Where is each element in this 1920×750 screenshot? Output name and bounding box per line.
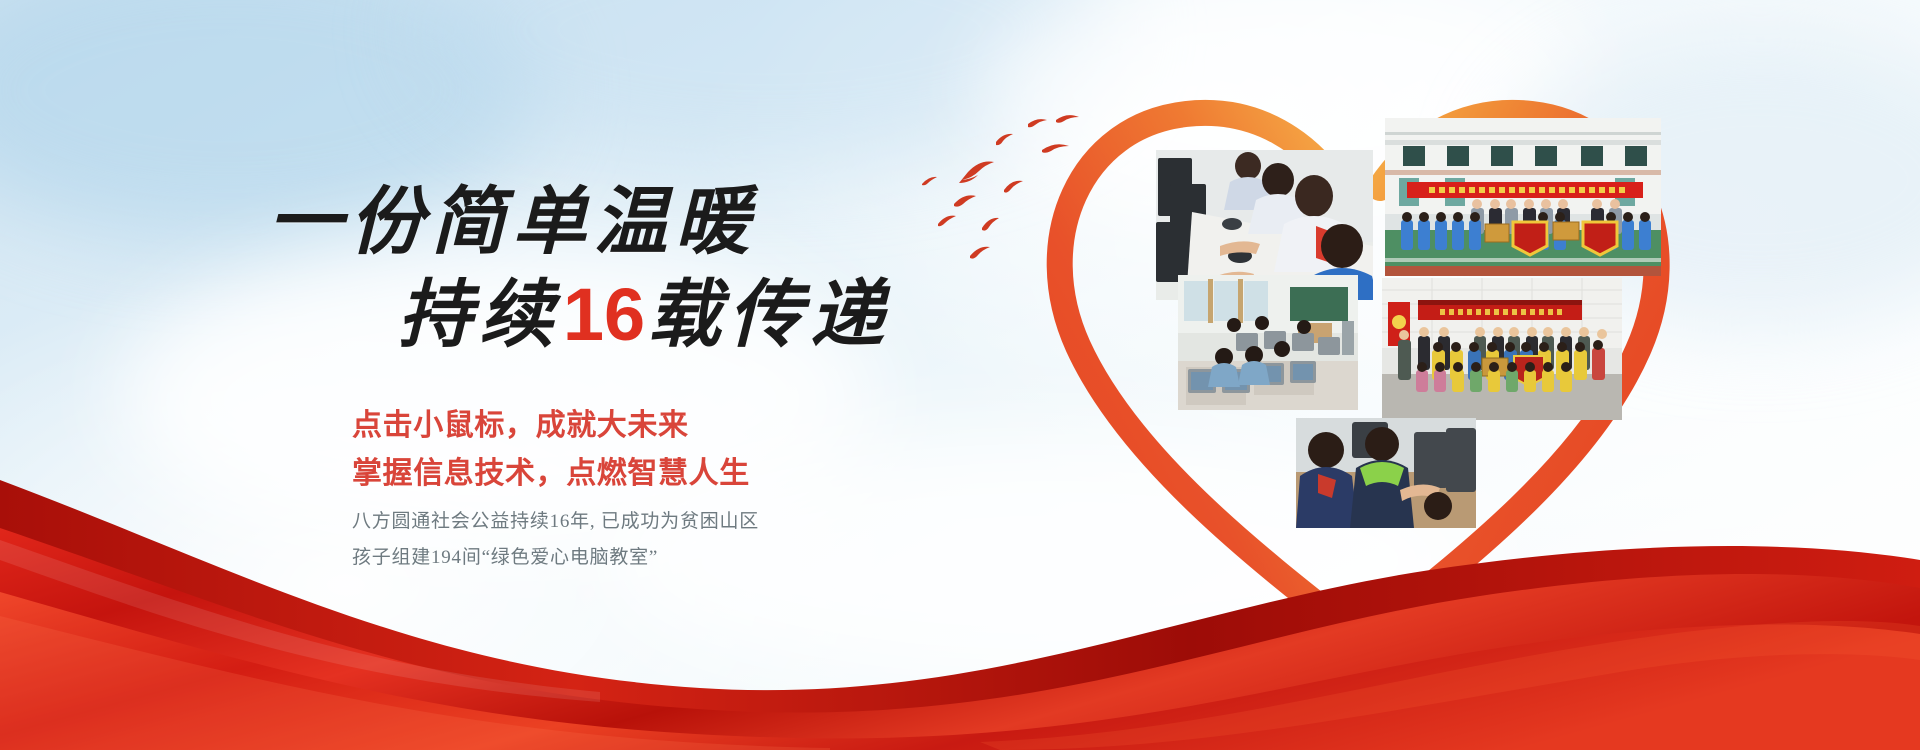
headline-line-2-suffix: 载传递 bbox=[647, 275, 891, 357]
headline-years-number: 16 bbox=[561, 273, 647, 356]
charity-banner: 一份简单温暖 持续16载传递 点击小鼠标，成就大未来 掌握信息技术，点燃智慧人生… bbox=[0, 0, 1920, 750]
headline-line-1: 一份简单温暖 bbox=[268, 186, 756, 260]
headline-line-2-prefix: 持续 bbox=[398, 275, 561, 357]
headline-line-2: 持续16载传递 bbox=[398, 278, 891, 353]
photo-ceremony-group bbox=[1382, 278, 1622, 420]
red-silk-wave-icon bbox=[0, 420, 1920, 750]
photo-school-donation-group bbox=[1385, 118, 1661, 276]
photo-computer-classroom bbox=[1178, 275, 1358, 410]
